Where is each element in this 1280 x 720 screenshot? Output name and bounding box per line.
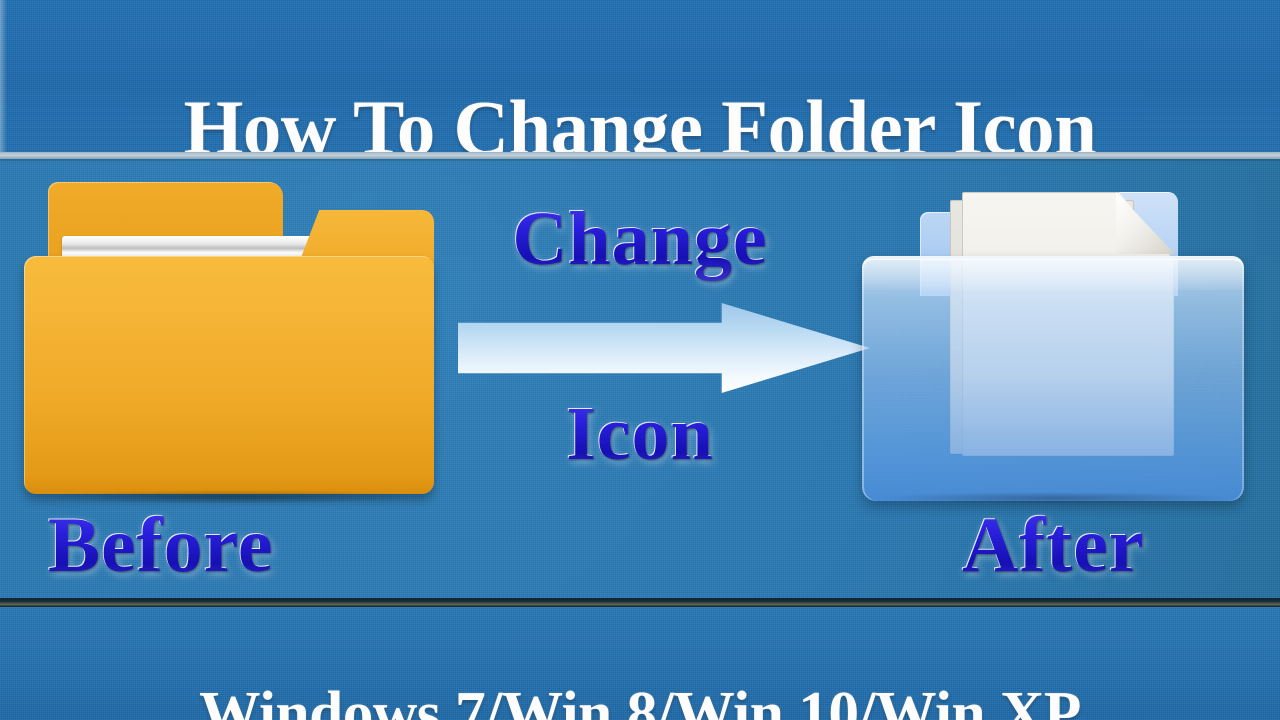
- platform-subtitle: Windows 7/Win 8/Win 10/Win XP: [6, 658, 1273, 720]
- after-label: After: [962, 500, 1145, 590]
- folder-front-panel: [862, 256, 1244, 501]
- arrow-body: [458, 303, 870, 393]
- divider-bottom: [0, 598, 1280, 607]
- divider-top: [0, 152, 1280, 159]
- folder-gloss-highlight: [862, 256, 1244, 290]
- footer-band: Windows 7/Win 8/Win 10/Win XP: [0, 607, 1280, 720]
- thumbnail-canvas: How To Change Folder Icon Before Change …: [0, 0, 1280, 720]
- blue-glass-folder-icon: [862, 186, 1244, 498]
- header-band: How To Change Folder Icon: [0, 0, 1280, 152]
- page-title: How To Change Folder Icon: [10, 52, 1271, 152]
- before-label: Before: [48, 500, 273, 590]
- right-arrow-icon: [458, 303, 870, 393]
